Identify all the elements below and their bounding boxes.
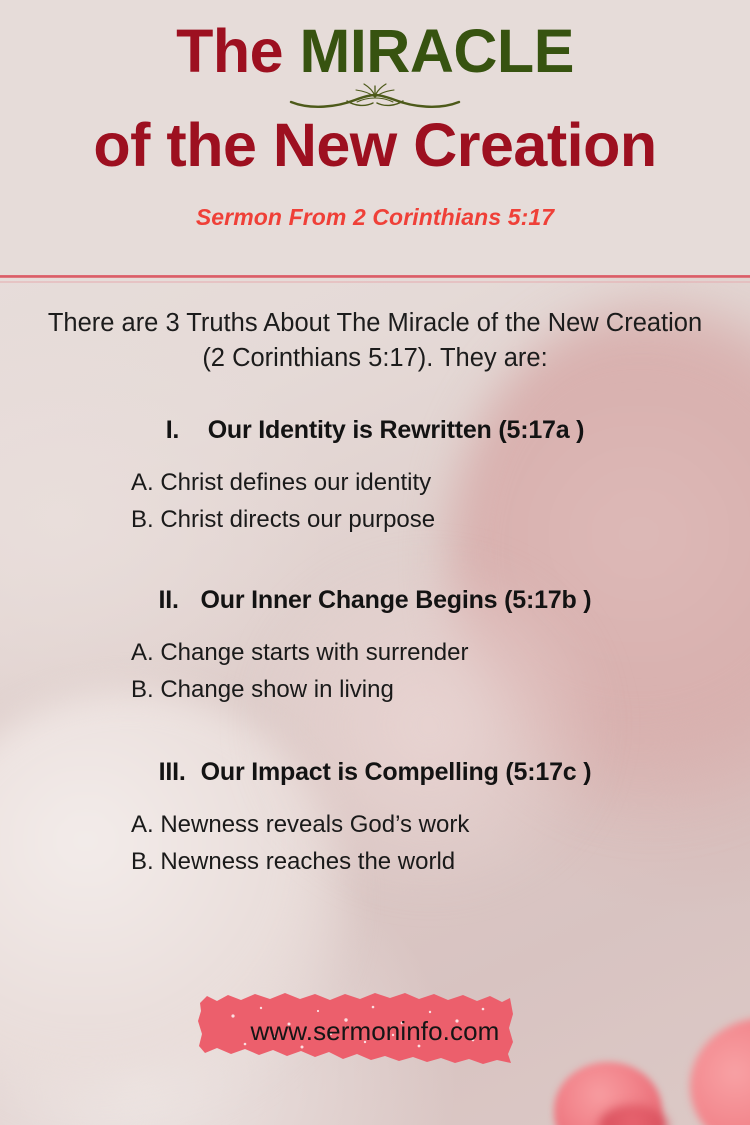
outline-point-3: III. Our Impact is Compelling (5:17c ) A… — [0, 758, 750, 880]
page-title-line-2: of the New Creation — [0, 114, 750, 177]
outline-point-2-heading: II. Our Inner Change Begins (5:17b ) — [0, 586, 750, 615]
outline-point-1-title: Our Identity is Rewritten (5:17a ) — [208, 416, 585, 445]
list-item: A. Newness reveals God’s work — [131, 807, 611, 843]
page-title-line-1: The MIRACLE — [0, 0, 750, 82]
outline-point-3-numeral: III. — [159, 758, 201, 787]
poster-footer: www.sermoninfo.com — [0, 982, 750, 1082]
list-item: A. Christ defines our identity — [131, 465, 611, 501]
list-item: B. Change show in living — [131, 672, 611, 708]
sermon-poster: The MIRACLE of the New Creation — [0, 0, 750, 1125]
outline-point-2-title: Our Inner Change Begins (5:17b ) — [201, 586, 592, 615]
header-divider-rule — [0, 275, 750, 278]
title-the-word: The — [176, 17, 299, 85]
poster-header: The MIRACLE of the New Creation — [0, 0, 750, 277]
title-miracle-word: MIRACLE — [300, 17, 574, 85]
list-item: A. Change starts with surrender — [131, 635, 611, 671]
floral-flourish-divider-icon — [0, 80, 750, 114]
outline-point-1-numeral: I. — [166, 416, 208, 445]
list-item: B. Christ directs our purpose — [131, 502, 611, 538]
outline-point-2-numeral: II. — [159, 586, 201, 615]
outline-content: There are 3 Truths About The Miracle of … — [0, 288, 750, 880]
header-divider-rule-soft — [0, 281, 750, 283]
website-url[interactable]: www.sermoninfo.com — [0, 982, 750, 1080]
outline-point-1-heading: I. Our Identity is Rewritten (5:17a ) — [0, 416, 750, 445]
outline-point-2-subpoints: A. Change starts with surrender B. Chang… — [131, 635, 611, 708]
outline-point-1-subpoints: A. Christ defines our identity B. Christ… — [131, 465, 611, 538]
outline-point-1: I. Our Identity is Rewritten (5:17a ) A.… — [0, 416, 750, 538]
outline-point-2: II. Our Inner Change Begins (5:17b ) A. … — [0, 586, 750, 708]
outline-point-3-subpoints: A. Newness reveals God’s work B. Newness… — [131, 807, 611, 880]
sermon-subtitle: Sermon From 2 Corinthians 5:17 — [0, 204, 750, 231]
list-item: B. Newness reaches the world — [131, 844, 611, 880]
outline-point-3-title: Our Impact is Compelling (5:17c ) — [201, 758, 592, 787]
intro-paragraph: There are 3 Truths About The Miracle of … — [45, 288, 705, 376]
outline-point-3-heading: III. Our Impact is Compelling (5:17c ) — [0, 758, 750, 787]
